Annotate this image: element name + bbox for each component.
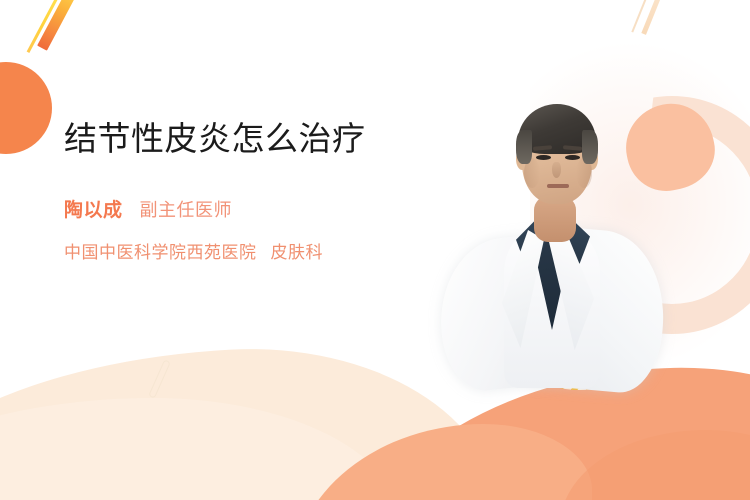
hospital-name: 中国中医科学院西苑医院 (64, 238, 257, 263)
diagonal-stripe-yellow-icon (27, 0, 60, 53)
eye-right (565, 155, 580, 160)
doctor-name-row: 陶以成 副主任医师 (64, 195, 424, 222)
doctor-info-card: 结节性皮炎怎么治疗 陶以成 副主任医师 中国中医科学院西苑医院 皮肤科 (0, 0, 750, 500)
salmon-wave-bottom-left-lobe (292, 424, 592, 500)
portrait-bottom-fade (430, 328, 680, 388)
salmon-wave-bottom-shade (560, 430, 750, 500)
diagonal-stripe-top-right-thin-icon (631, 0, 652, 32)
doctor-name: 陶以成 (64, 195, 123, 222)
text-block: 结节性皮炎怎么治疗 陶以成 副主任医师 中国中医科学院西苑医院 皮肤科 (64, 118, 424, 263)
doctor-title: 副主任医师 (140, 196, 233, 222)
page-title: 结节性皮炎怎么治疗 (64, 118, 394, 159)
peach-wave-bottom-left-inner (0, 398, 400, 500)
hair-side-left (516, 130, 532, 164)
hair-side-right (582, 130, 598, 164)
diagonal-stripe-top-right-thick-icon (641, 0, 667, 35)
outline-diagonal-mark-icon (148, 359, 171, 398)
eye-left (536, 155, 551, 160)
doctor-portrait (430, 78, 680, 378)
mouth (547, 184, 569, 188)
orange-half-circle (0, 62, 52, 154)
doctor-affiliation-row: 中国中医科学院西苑医院 皮肤科 (64, 238, 424, 263)
department-name: 皮肤科 (271, 238, 324, 263)
doctor-meta: 陶以成 副主任医师 中国中医科学院西苑医院 皮肤科 (64, 195, 424, 263)
nose (552, 162, 561, 178)
diagonal-stripe-orange-icon (37, 0, 78, 51)
